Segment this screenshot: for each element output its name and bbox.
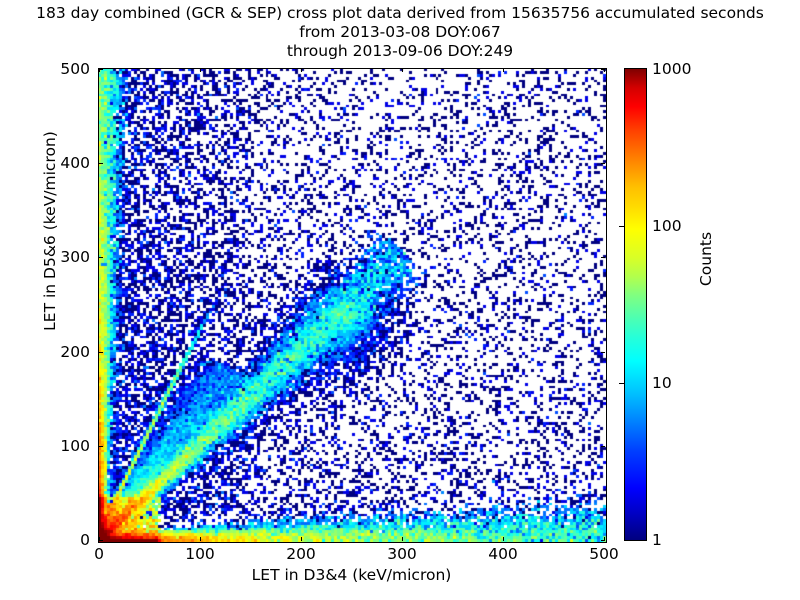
y-tick-mark-right — [601, 257, 605, 258]
y-tick-mark — [99, 69, 103, 70]
plot-area — [98, 68, 607, 543]
x-tick-mark-top — [200, 68, 201, 72]
y-tick-label: 500 — [36, 60, 90, 78]
x-tick-mark — [402, 537, 403, 541]
y-tick-label: 100 — [36, 437, 90, 455]
colorbar-tick-label: 1000 — [652, 60, 691, 78]
colorbar: 1101001000 — [624, 68, 647, 541]
x-tick-label: 100 — [185, 545, 215, 563]
y-tick-mark — [99, 257, 103, 258]
colorbar-tick-label: 1 — [652, 531, 662, 549]
colorbar-tick-label: 100 — [652, 217, 682, 235]
x-tick-label: 500 — [589, 545, 619, 563]
colorbar-tick-label: 10 — [652, 374, 672, 392]
y-tick-mark — [99, 352, 103, 353]
title-line-3: through 2013-09-06 DOY:249 — [0, 42, 800, 61]
x-tick-label: 300 — [387, 545, 417, 563]
x-tick-mark-top — [503, 68, 504, 72]
y-tick-label: 200 — [36, 343, 90, 361]
y-tick-mark — [99, 540, 103, 541]
y-tick-mark-right — [601, 352, 605, 353]
figure-root: 183 day combined (GCR & SEP) cross plot … — [0, 0, 800, 600]
colorbar-tick-mark — [619, 226, 624, 227]
x-tick-label: 200 — [286, 545, 316, 563]
y-tick-mark-right — [601, 540, 605, 541]
x-tick-mark-top — [402, 68, 403, 72]
x-tick-mark — [200, 537, 201, 541]
x-tick-mark-top — [301, 68, 302, 72]
y-tick-mark-right — [601, 163, 605, 164]
x-tick-mark — [301, 537, 302, 541]
y-tick-mark-right — [601, 69, 605, 70]
colorbar-title: Counts — [697, 199, 715, 319]
colorbar-gradient — [624, 68, 647, 541]
density-scatter-canvas — [99, 69, 606, 542]
title-line-2: from 2013-03-08 DOY:067 — [0, 23, 800, 42]
y-tick-mark — [99, 163, 103, 164]
title-line-1: 183 day combined (GCR & SEP) cross plot … — [0, 4, 800, 23]
x-tick-label: 0 — [94, 545, 104, 563]
plot-title: 183 day combined (GCR & SEP) cross plot … — [0, 4, 800, 61]
y-tick-mark — [99, 446, 103, 447]
colorbar-tick-mark — [619, 383, 624, 384]
y-tick-label: 0 — [36, 531, 90, 549]
y-tick-mark-right — [601, 446, 605, 447]
x-tick-mark — [503, 537, 504, 541]
x-tick-label: 400 — [488, 545, 518, 563]
y-axis-label: LET in D5&6 (keV/micron) — [41, 121, 59, 341]
x-axis-label: LET in D3&4 (keV/micron) — [98, 566, 605, 584]
